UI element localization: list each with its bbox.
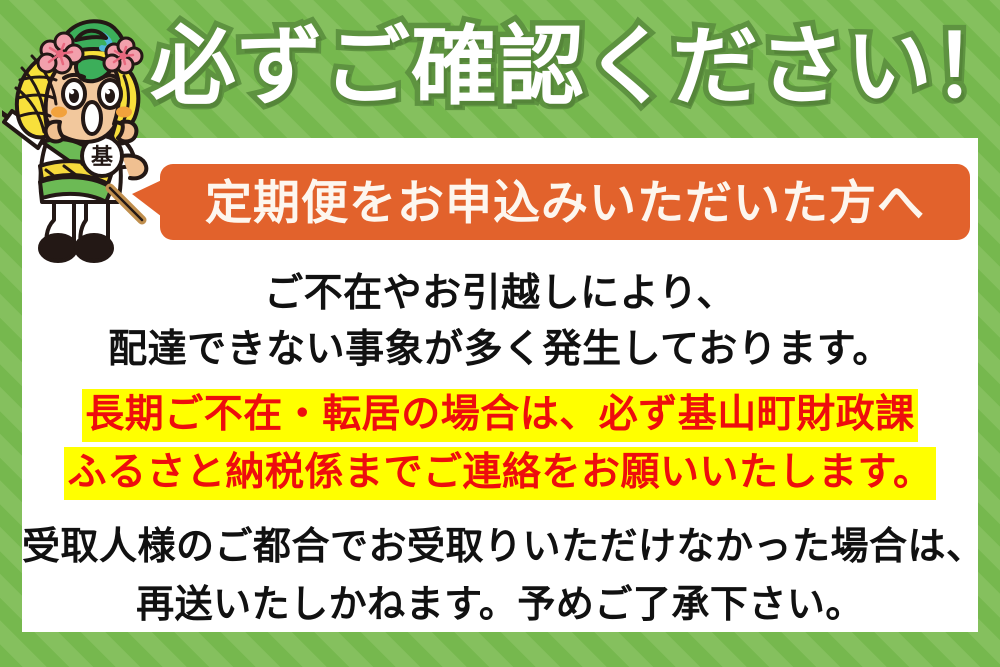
paragraph-no-resend-notice: 受取人様のご都合でお受取りいただけなかった場合は、 再送いたしかねます。予めご了… bbox=[22, 518, 978, 634]
mascot-emblem-label: 基 bbox=[91, 145, 114, 170]
text-line: 再送いたしかねます。予めご了承下さい。 bbox=[22, 576, 978, 634]
subscription-banner: 定期便をお申込みいただいた方へ bbox=[160, 164, 970, 240]
text-line: 受取人様のご都合でお受取りいただけなかった場合は、 bbox=[22, 518, 978, 576]
text-line-highlighted: 長期ご不在・転居の場合は、必ず基山町財政課 bbox=[22, 386, 978, 444]
highlight-span: ふるさと納税係までご連絡をお願いいたします。 bbox=[66, 449, 933, 498]
banner-label: 定期便をお申込みいただいた方へ bbox=[205, 179, 925, 226]
page-title: 必ずご確認ください！ bbox=[190, 11, 980, 123]
mascot-character-icon: 基 bbox=[2, 6, 178, 272]
poster-root: 必ずご確認ください！ 定期便をお申込みいただいた方へ ご不在やお引越しにより、 … bbox=[0, 0, 1000, 667]
banner-container: 定期便をお申込みいただいた方へ bbox=[132, 164, 970, 240]
text-line: ご不在やお引越しにより、 bbox=[22, 266, 978, 322]
paragraph-absence-notice: ご不在やお引越しにより、 配達できない事象が多く発生しております。 bbox=[22, 266, 978, 378]
paragraph-contact-request: 長期ご不在・転居の場合は、必ず基山町財政課 ふるさと納税係までご連絡をお願いいた… bbox=[22, 386, 978, 502]
highlight-span: 長期ご不在・転居の場合は、必ず基山町財政課 bbox=[84, 391, 916, 440]
text-line-highlighted: ふるさと納税係までご連絡をお願いいたします。 bbox=[22, 444, 978, 502]
text-line: 配達できない事象が多く発生しております。 bbox=[22, 322, 978, 378]
